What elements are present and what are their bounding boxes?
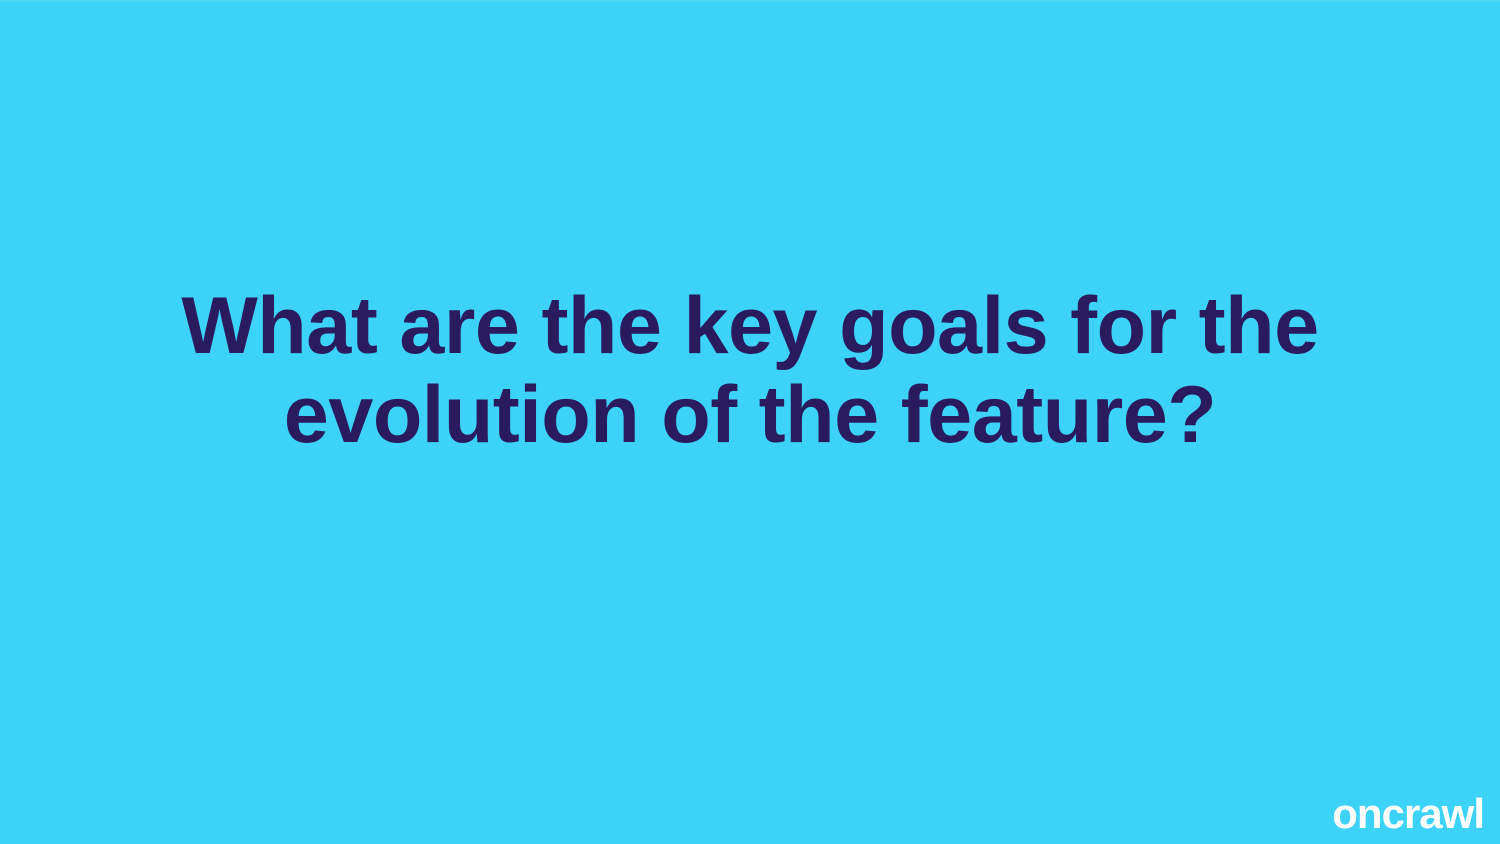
- oncrawl-logo: oncrawl: [1332, 793, 1484, 835]
- oncrawl-wordmark-text: oncrawl: [1332, 793, 1484, 835]
- slide-headline: What are the key goals for the evolution…: [160, 282, 1340, 460]
- presentation-slide: What are the key goals for the evolution…: [0, 0, 1500, 844]
- headline-block: What are the key goals for the evolution…: [0, 282, 1500, 460]
- slide-top-edge-highlight: [0, 0, 1500, 2]
